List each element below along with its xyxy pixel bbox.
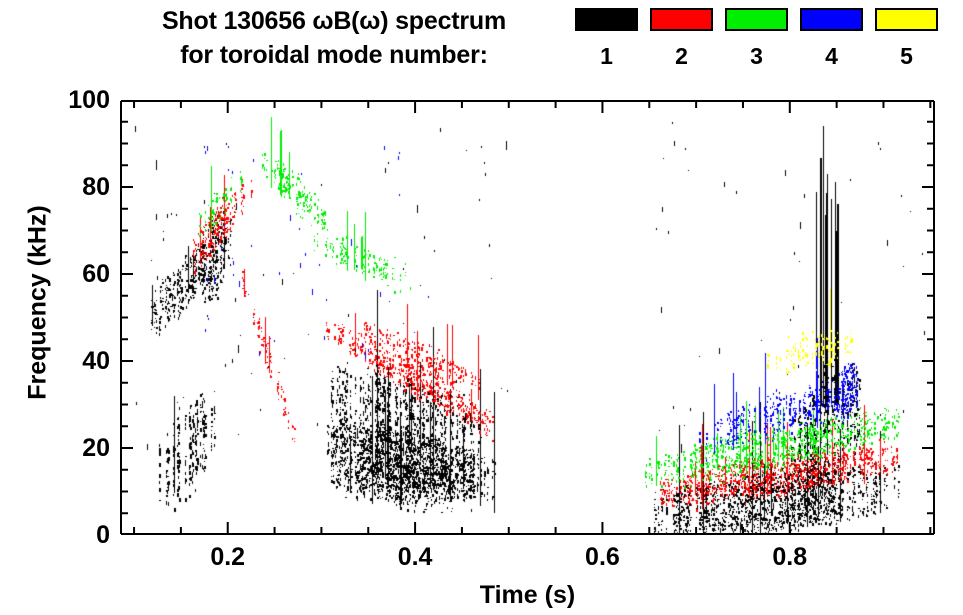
x-ticklabel-0.2: 0.2 [183, 545, 273, 570]
x-ticklabel-0.8: 0.8 [745, 545, 835, 570]
legend-item-3: 3 [725, 8, 788, 68]
legend-item-2: 2 [650, 8, 713, 68]
figure-title: Shot 130656 ωB(ω) spectrum for toroidal … [104, 4, 564, 72]
spectrogram-figure: Shot 130656 ωB(ω) spectrum for toroidal … [0, 0, 963, 615]
legend-swatch-4 [800, 8, 863, 31]
legend-label-5: 5 [875, 45, 938, 68]
legend-label-4: 4 [800, 45, 863, 68]
legend-item-5: 5 [875, 8, 938, 68]
legend-label-2: 2 [650, 45, 713, 68]
x-axis-ticklabels: 0.20.40.60.8 [120, 545, 935, 575]
title-line-1: Shot 130656 ωB(ω) spectrum [104, 4, 564, 38]
y-ticklabel-80: 80 [40, 175, 110, 200]
legend-item-1: 1 [575, 8, 638, 68]
legend-label-3: 3 [725, 45, 788, 68]
plot-area [120, 100, 935, 535]
legend-swatch-5 [875, 8, 938, 31]
x-ticklabel-0.6: 0.6 [557, 545, 647, 570]
legend-label-1: 1 [575, 45, 638, 68]
y-axis-title: Frequency (kHz) [26, 173, 51, 433]
legend-item-4: 4 [800, 8, 863, 68]
legend-swatch-1 [575, 8, 638, 31]
y-ticklabel-100: 100 [40, 88, 110, 113]
x-axis-title: Time (s) [120, 583, 935, 608]
y-ticklabel-20: 20 [40, 436, 110, 461]
spectrogram-plot [120, 100, 935, 535]
legend-swatch-2 [650, 8, 713, 31]
x-ticklabel-0.4: 0.4 [370, 545, 460, 570]
legend-swatch-3 [725, 8, 788, 31]
mode-number-legend: 12345 [575, 8, 955, 88]
y-axis-title-wrap: Frequency (kHz) [0, 0, 1, 1]
title-line-2: for toroidal mode number: [104, 38, 564, 72]
y-ticklabel-0: 0 [40, 523, 110, 548]
